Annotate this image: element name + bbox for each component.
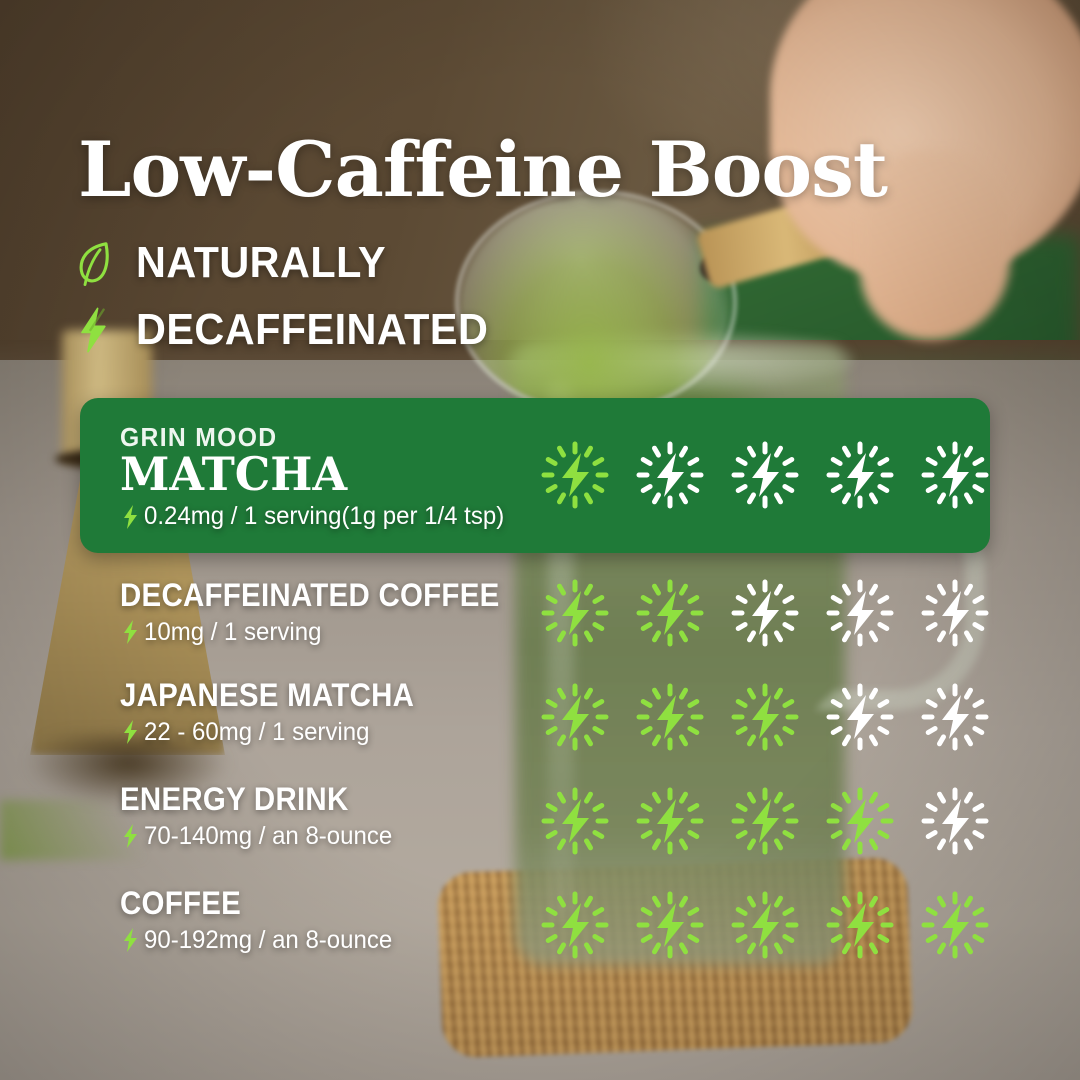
bolt-filled-icon [825,890,895,960]
benefit-item-naturally: NATURALLY [74,238,402,288]
mini-bolt-icon [120,504,140,530]
bolt-empty-icon [730,440,800,510]
benefit-item-decaffeinated: DECAFFEINATED [74,305,511,355]
bolt-empty-icon [635,440,705,510]
comparison-row: COFFEE90-192mg / an 8-ounce [0,886,1080,996]
bolt-empty-icon [825,682,895,752]
benefit-label: NATURALLY [136,238,386,288]
bolt-filled-icon [540,890,610,960]
caffeine-meter [540,440,990,510]
row-name: DECAFFEINATED COFFEE [120,578,500,614]
bolt-filled-icon [635,786,705,856]
row-label-group: JAPANESE MATCHA22 - 60mg / 1 serving [120,678,440,748]
bolt-filled-icon [540,786,610,856]
comparison-row: DECAFFEINATED COFFEE10mg / 1 serving [0,578,1080,688]
caffeine-meter [540,682,990,752]
row-value-text: 90-192mg / an 8-ounce [144,925,392,956]
comparison-row: ENERGY DRINK70-140mg / an 8-ounce [0,782,1080,892]
bolt-empty-icon [825,440,895,510]
mini-bolt-icon [120,719,140,745]
bolt-filled-icon [730,682,800,752]
row-value: 70-140mg / an 8-ounce [120,821,403,852]
row-name: ENERGY DRINK [120,782,380,818]
row-value-text: 70-140mg / an 8-ounce [144,821,392,852]
caffeine-meter [540,786,990,856]
row-label-group: DECAFFEINATED COFFEE10mg / 1 serving [120,578,533,648]
bolt-empty-icon [825,578,895,648]
bolt-filled-icon [540,578,610,648]
caffeine-meter [540,890,990,960]
mini-bolt-icon [120,619,140,645]
bolt-filled-icon [730,890,800,960]
row-value-text: 0.24mg / 1 serving(1g per 1/4 tsp) [144,501,504,532]
row-name: JAPANESE MATCHA [120,678,414,714]
row-value: 0.24mg / 1 serving(1g per 1/4 tsp) [120,501,519,532]
row-value: 10mg / 1 serving [120,617,533,648]
bolt-filled-icon [635,890,705,960]
row-value: 90-192mg / an 8-ounce [120,925,403,956]
row-label-group: COFFEE90-192mg / an 8-ounce [120,886,403,956]
row-value: 22 - 60mg / 1 serving [120,717,440,748]
row-label-group: ENERGY DRINK70-140mg / an 8-ounce [120,782,403,852]
comparison-row: GRIN MOODMATCHA0.24mg / 1 serving(1g per… [0,424,1080,534]
bolt-empty-icon [920,578,990,648]
row-name: COFFEE [120,886,380,922]
row-value-text: 22 - 60mg / 1 serving [144,717,369,748]
row-name: MATCHA [120,450,507,498]
bolt-filled-icon [540,440,610,510]
row-label-group: GRIN MOODMATCHA0.24mg / 1 serving(1g per… [120,424,519,533]
benefit-label: DECAFFEINATED [136,305,488,355]
comparison-row: JAPANESE MATCHA22 - 60mg / 1 serving [0,678,1080,788]
bolt-filled-icon [920,890,990,960]
bolt-empty-icon [920,786,990,856]
mini-bolt-icon [120,927,140,953]
page-title: Low-Caffeine Boost [78,132,887,208]
bolt-filled-icon [635,578,705,648]
bolt-filled-icon [635,682,705,752]
bolt-filled-icon [825,786,895,856]
bolt-empty-icon [730,578,800,648]
mini-bolt-icon [120,823,140,849]
bolt-empty-icon [920,440,990,510]
caffeine-meter [540,578,990,648]
bolt-empty-icon [920,682,990,752]
leaf-icon [74,239,114,287]
bolt-icon [74,306,114,354]
bolt-filled-icon [730,786,800,856]
row-value-text: 10mg / 1 serving [144,617,321,648]
bolt-filled-icon [540,682,610,752]
